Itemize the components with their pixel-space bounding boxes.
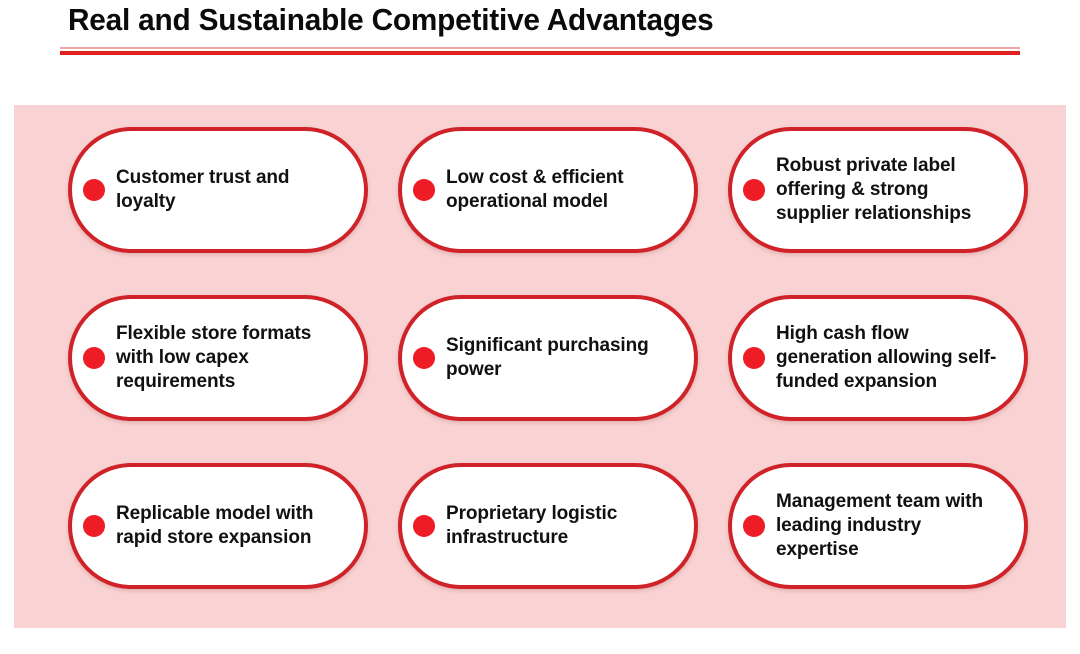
advantage-label: Robust private label offering & strong s… [776, 154, 1006, 227]
bullet-dot-icon [83, 515, 105, 537]
title-underline-rule [60, 47, 1020, 58]
bullet-dot-icon [743, 179, 765, 201]
advantages-panel: Customer trust and loyalty Low cost & ef… [14, 105, 1066, 628]
advantage-card-private-label[interactable]: Robust private label offering & strong s… [728, 127, 1028, 253]
advantage-card-replicable-model[interactable]: Replicable model with rapid store expans… [68, 463, 368, 589]
bullet-dot-icon [83, 179, 105, 201]
advantage-label: Customer trust and loyalty [116, 166, 346, 215]
bullet-dot-icon [413, 179, 435, 201]
title-rule-thick [60, 51, 1020, 55]
advantage-card-customer-trust[interactable]: Customer trust and loyalty [68, 127, 368, 253]
advantage-label: Flexible store formats with low capex re… [116, 322, 346, 395]
advantages-grid: Customer trust and loyalty Low cost & ef… [68, 127, 1028, 609]
advantage-card-logistics[interactable]: Proprietary logistic infrastructure [398, 463, 698, 589]
advantage-label: High cash flow generation allowing self-… [776, 322, 1006, 395]
bullet-dot-icon [743, 347, 765, 369]
advantage-label: Significant purchasing power [446, 334, 676, 383]
advantage-card-low-cost[interactable]: Low cost & efficient operational model [398, 127, 698, 253]
advantage-label: Management team with leading industry ex… [776, 490, 1006, 563]
page-title: Real and Sustainable Competitive Advanta… [68, 2, 714, 38]
advantage-card-cash-flow[interactable]: High cash flow generation allowing self-… [728, 295, 1028, 421]
bullet-dot-icon [413, 347, 435, 369]
advantage-label: Replicable model with rapid store expans… [116, 502, 346, 551]
advantage-card-management-team[interactable]: Management team with leading industry ex… [728, 463, 1028, 589]
bullet-dot-icon [83, 347, 105, 369]
bullet-dot-icon [413, 515, 435, 537]
advantage-card-purchasing-power[interactable]: Significant purchasing power [398, 295, 698, 421]
advantage-card-flexible-formats[interactable]: Flexible store formats with low capex re… [68, 295, 368, 421]
advantage-label: Low cost & efficient operational model [446, 166, 676, 215]
advantage-label: Proprietary logistic infrastructure [446, 502, 676, 551]
bullet-dot-icon [743, 515, 765, 537]
